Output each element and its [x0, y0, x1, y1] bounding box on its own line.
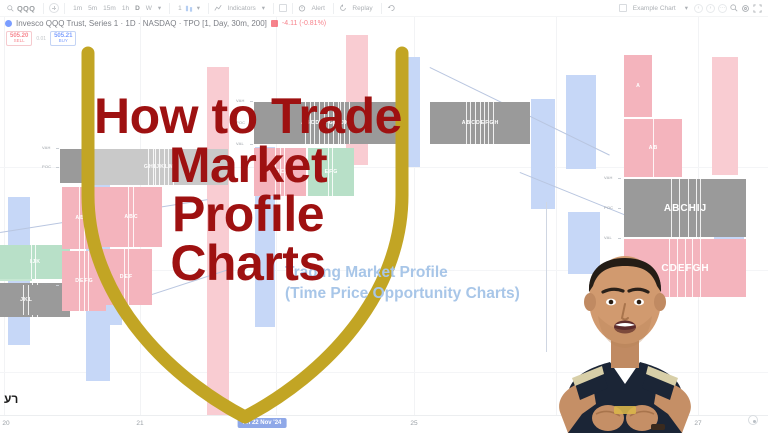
tpo-letters: E F G: [325, 148, 338, 196]
price-bar: [402, 57, 420, 167]
tpo-row: A B C: [100, 187, 162, 247]
toolbar-divider: [381, 3, 382, 14]
sell-price-label: SELL: [10, 39, 28, 44]
tpo-row: D E F: [100, 249, 152, 305]
symbol-search-button[interactable]: QQQ: [4, 3, 38, 14]
tpo-row: A B C: [62, 187, 102, 249]
tpo-letters: D E F G: [75, 251, 92, 311]
tpo-letter: A: [636, 55, 640, 117]
tpo-letters: G H I J K L M N: [144, 149, 178, 185]
tpo-letter: J: [701, 179, 707, 237]
price-bar: [712, 57, 738, 175]
gridline-vertical: [276, 17, 277, 415]
tpo-letter: H: [701, 239, 708, 297]
tpo-letter: H: [494, 102, 498, 144]
tpo-letters: A B C D E F G H: [462, 102, 498, 144]
tpo-letter: G: [89, 251, 93, 311]
tpo-letter: C: [85, 187, 89, 249]
replay-icon: [339, 4, 347, 12]
vah-tick: [56, 148, 59, 149]
layout-caret[interactable]: ▾: [682, 3, 691, 13]
tpo-row: E F G: [308, 148, 354, 196]
tpo-letter: N: [174, 149, 178, 185]
buy-price-label: BUY: [54, 39, 72, 44]
poc-label: POC: [604, 205, 613, 210]
tpo-letter: F: [129, 249, 132, 305]
price-bar: [207, 67, 229, 415]
tpo-row: A B C D: [254, 148, 306, 196]
crosshair-target-icon[interactable]: [748, 415, 758, 425]
indicators-button[interactable]: Indicators: [214, 4, 259, 13]
tpo-letter: E: [678, 239, 686, 297]
current-date-badge: Fri 22 Nov '24: [238, 418, 287, 428]
interval-d[interactable]: D: [132, 4, 143, 13]
tpo-letter: G: [333, 148, 337, 196]
val-label: VAL: [604, 235, 612, 240]
red-flag-icon: [271, 20, 278, 27]
val-tick: [56, 285, 59, 286]
chart-style-number[interactable]: 1: [175, 4, 185, 13]
val-label: VAL: [236, 141, 244, 146]
alert-button[interactable]: Alert: [298, 4, 328, 13]
tpo-letter: H: [689, 179, 697, 237]
tpo-row-value-area: J K L: [0, 285, 52, 315]
toolbar-divider: [208, 3, 209, 14]
sell-price-pill[interactable]: 505.20 SELL: [6, 31, 32, 46]
vah-tick: [618, 178, 621, 179]
tpo-letters: A B C D E F G H I J K L: [301, 102, 353, 144]
tpo-letter: C: [134, 187, 138, 247]
tpo-letters: A B C H I J: [664, 179, 706, 237]
toolbar-divider: [43, 3, 44, 14]
hebrew-watermark: רע: [4, 392, 18, 406]
vah-label: VAH: [604, 175, 613, 180]
tpo-letter: C: [661, 239, 669, 297]
interval-1h[interactable]: 1h: [119, 4, 132, 13]
buy-price-pill[interactable]: 505.21 BUY: [50, 31, 76, 46]
nav-back-button[interactable]: ‹: [694, 4, 703, 13]
tpo-letters: A B: [649, 119, 658, 177]
toolbar-divider: [64, 3, 65, 14]
gear-icon[interactable]: [741, 4, 750, 13]
toolbar-divider: [292, 3, 293, 14]
time-axis[interactable]: רע 20 21 25 27 Fri 22 Nov '24: [0, 415, 768, 433]
poc-label: POC: [236, 120, 245, 125]
tpo-letters: J K L: [20, 285, 32, 315]
price-wick: [546, 202, 547, 352]
price-bar: [531, 99, 555, 209]
legend-title: Invesco QQQ Trust, Series 1 · 1D · NASDA…: [16, 19, 267, 28]
price-pill-row: 505.20 SELL 0.01 505.21 BUY: [6, 31, 76, 46]
toolbar-right-group: Example Chart ▾ ‹ › ···: [619, 3, 764, 13]
poc-tick: [250, 123, 253, 124]
tpo-letters: A: [636, 55, 640, 117]
replay-label: Replay: [349, 4, 375, 13]
tpo-letters: A B C: [75, 187, 88, 249]
tpo-row-value-area: A B C H I J: [624, 179, 746, 237]
tpo-letters: A B C D: [271, 148, 289, 196]
time-tick: 27: [694, 420, 701, 427]
gridline-vertical: [556, 17, 557, 415]
interval-15m[interactable]: 15m: [100, 4, 119, 13]
gridline-vertical: [4, 17, 5, 415]
tpo-row: A B: [624, 119, 682, 177]
alert-clock-icon: [298, 4, 306, 12]
alert-label: Alert: [309, 4, 328, 13]
interval-w[interactable]: W: [143, 4, 155, 13]
spread-value: 0.01: [36, 36, 46, 42]
legend-change: -4.11 (-0.81%): [282, 20, 326, 27]
candles-caret[interactable]: ▾: [194, 3, 203, 13]
tpo-letter: G: [693, 239, 702, 297]
candles-icon[interactable]: [185, 4, 194, 13]
tpo-row: A: [624, 55, 652, 117]
layout-name-label[interactable]: Example Chart: [630, 4, 679, 13]
indicators-icon: [214, 4, 222, 12]
tpo-letter: K: [36, 245, 40, 279]
tpo-letters: C D E F G H: [661, 239, 708, 297]
price-bar: [346, 35, 368, 165]
tpo-letter: L: [350, 102, 353, 144]
tpo-row-value-area: A B C D E F G H: [430, 102, 530, 144]
toolbar-divider: [169, 3, 170, 14]
toolbar-divider: [273, 3, 274, 14]
toolbar-divider: [333, 3, 334, 14]
tpo-letters: A B C: [124, 187, 137, 247]
poc-tick: [618, 208, 621, 209]
tpo-letters: I J K: [30, 245, 40, 279]
interval-1m[interactable]: 1m: [70, 4, 85, 13]
tpo-row-value-area: A B C D E F G H I J K L: [254, 102, 400, 144]
tpo-letter: D: [670, 239, 678, 297]
vah-tick: [250, 101, 253, 102]
price-bar: [568, 212, 600, 274]
tpo-letter: F: [686, 239, 693, 297]
tpo-row: G H I J K L M N: [94, 149, 228, 185]
interval-more-caret[interactable]: ▾: [155, 3, 164, 13]
replay-button[interactable]: Replay: [339, 4, 376, 13]
price-bar: [566, 75, 596, 169]
time-tick: 25: [410, 420, 417, 427]
chart-legend[interactable]: Invesco QQQ Trust, Series 1 · 1D · NASDA…: [5, 19, 326, 28]
chart-canvas[interactable]: I J K J K L A B C: [0, 17, 768, 415]
interval-group: 1m 5m 15m 1h D W ▾: [70, 3, 164, 13]
gridline-horizontal: [0, 372, 768, 373]
search-icon[interactable]: [730, 4, 738, 12]
tpo-letter: C: [680, 179, 688, 237]
nav-forward-button[interactable]: ›: [706, 4, 715, 13]
val-tick: [618, 238, 621, 239]
tpo-letter: B: [672, 179, 680, 237]
time-tick: 21: [136, 420, 143, 427]
tpo-letter: D: [285, 148, 289, 196]
top-toolbar: QQQ 1m 5m 15m 1h D W ▾ 1 ▾ Indicators ▾: [0, 0, 768, 17]
val-tick: [250, 144, 253, 145]
indicators-label: Indicators: [225, 4, 259, 13]
tpo-letter: B: [654, 119, 658, 177]
tpo-letter: A: [664, 179, 672, 237]
plus-circle-icon[interactable]: [49, 3, 59, 13]
vah-label: VAH: [42, 145, 51, 150]
interval-5m[interactable]: 5m: [85, 4, 100, 13]
indicators-caret[interactable]: ▾: [259, 3, 268, 13]
symbol-label: QQQ: [17, 4, 35, 13]
layout-square-icon[interactable]: [619, 4, 627, 12]
nav-more-button[interactable]: ···: [718, 4, 727, 13]
templates-icon[interactable]: [279, 4, 287, 12]
time-tick: 20: [2, 420, 9, 427]
symbol-dot-icon: [5, 20, 12, 27]
fullscreen-icon[interactable]: [753, 4, 762, 13]
tpo-row: C D E F G H: [624, 239, 746, 297]
poc-label: POC: [42, 164, 51, 169]
tpo-letters: D E F: [120, 249, 132, 305]
vah-label: VAH: [236, 98, 245, 103]
screen-root: QQQ 1m 5m 15m 1h D W ▾ 1 ▾ Indicators ▾: [0, 0, 768, 433]
tpo-letter: L: [29, 285, 32, 315]
tpo-row: I J K: [0, 245, 70, 279]
magnifier-icon: [7, 5, 14, 12]
undo-icon[interactable]: [387, 4, 396, 12]
poc-tick: [56, 167, 59, 168]
